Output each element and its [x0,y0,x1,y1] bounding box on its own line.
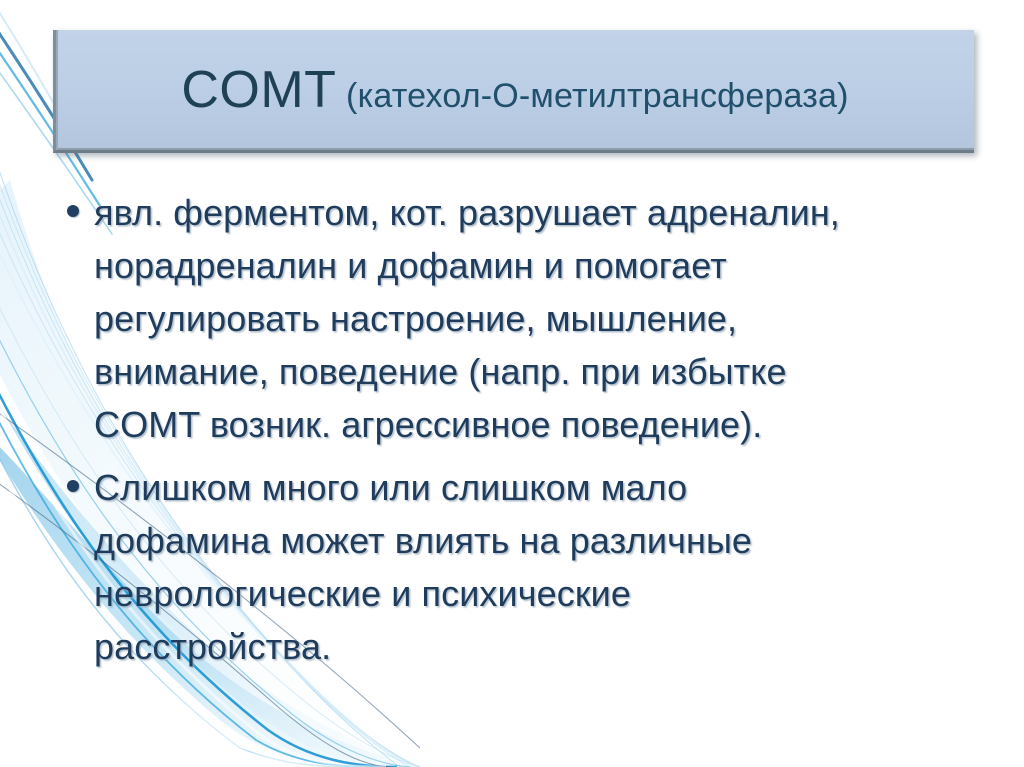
bullet-line: дофамина может влиять на различные [94,514,952,567]
bullet-line: расстройства. [94,620,952,673]
bullet-text: явл. ферментом, кот. разрушает адреналин… [94,186,952,451]
bullet-text: Слишком много или слишком мало дофамина … [94,461,952,673]
bullet-line: внимание, поведение (напр. при избытке [94,345,952,398]
bullet-dot-icon [52,186,94,217]
list-item: Слишком много или слишком мало дофамина … [52,461,952,673]
slide-title-plate: COMT (катехол-О-метилтрансфераза) [53,30,974,153]
bullet-dot-icon [52,461,94,492]
bullet-line: COMT возник. агрессивное поведение). [94,398,952,451]
slide-canvas: COMT (катехол-О-метилтрансфераза) явл. ф… [0,0,1024,767]
slide-body: явл. ферментом, кот. разрушает адреналин… [52,186,952,683]
bullet-line: норадреналин и дофамин и помогает [94,239,952,292]
bullet-line: регулировать настроение, мышление, [94,292,952,345]
title-sub-text: (катехол-О-метилтрансфераза) [336,77,848,115]
bullet-line: явл. ферментом, кот. разрушает адреналин… [94,186,952,239]
bullet-line: неврологические и психические [94,567,952,620]
bullet-line: Слишком много или слишком мало [94,461,952,514]
title-main-text: COMT [181,61,336,119]
list-item: явл. ферментом, кот. разрушает адреналин… [52,186,952,451]
page-title: COMT (катехол-О-метилтрансфераза) [181,63,848,118]
